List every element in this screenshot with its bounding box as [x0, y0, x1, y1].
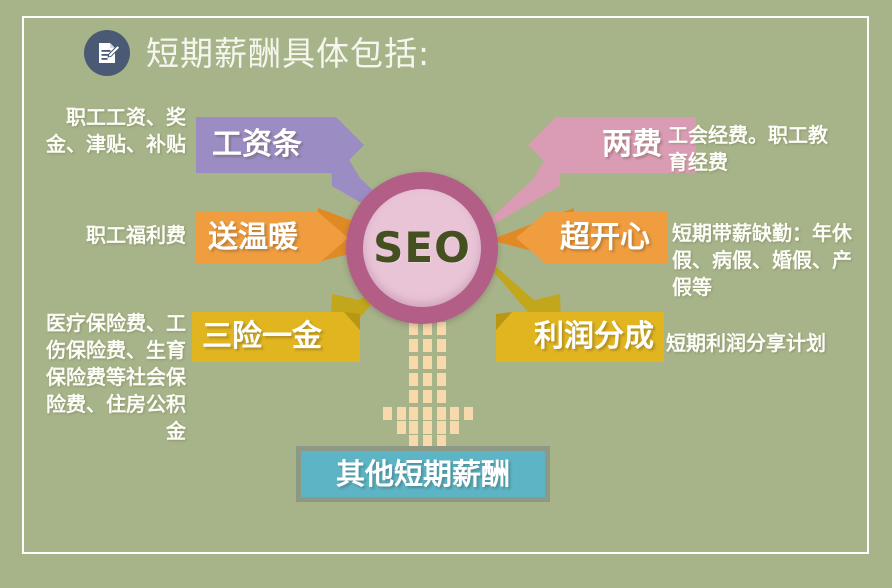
caption-songwennuan: 职工福利费 — [36, 222, 186, 249]
banner-sanxianyijin[interactable]: 三险一金 — [192, 312, 360, 362]
center-hub-label: SEO — [373, 227, 471, 269]
caption-liangfei: 工会经费。职工教育经费 — [668, 122, 844, 176]
banner-lirunfencheng[interactable]: 利润分成 — [496, 312, 664, 362]
banner-label: 利润分成 — [534, 322, 654, 352]
banner-chaokaixin[interactable]: 超开心 — [516, 212, 668, 264]
center-hub: SEO — [346, 172, 498, 324]
caption-sanxianyijin: 医疗保险费、工伤保险费、生育保险费等社会保险费、住房公积金 — [28, 310, 186, 445]
caption-lirunfencheng: 短期利润分享计划 — [666, 330, 852, 357]
bottom-box-label: 其他短期薪酬 — [336, 460, 510, 489]
infographic-canvas: 短期薪酬具体包括: SEO 工资条 两费 — [0, 0, 892, 588]
caption-gongzitiao: 职工工资、奖金、津贴、补贴 — [34, 104, 186, 158]
banner-label: 工资条 — [212, 130, 302, 160]
bottom-box-other-compensation[interactable]: 其他短期薪酬 — [296, 446, 550, 502]
banner-gongzitiao[interactable]: 工资条 — [196, 117, 364, 173]
caption-chaokaixin: 短期带薪缺勤：年休假、病假、婚假、产假等 — [672, 220, 858, 301]
banner-label: 送温暖 — [208, 223, 298, 253]
banner-label: 超开心 — [560, 223, 650, 253]
banner-label: 两费 — [602, 130, 662, 160]
dotted-down-arrow — [383, 322, 475, 448]
banner-label: 三险一金 — [202, 322, 322, 352]
banner-songwennuan[interactable]: 送温暖 — [196, 212, 348, 264]
center-hub-inner: SEO — [363, 189, 481, 307]
